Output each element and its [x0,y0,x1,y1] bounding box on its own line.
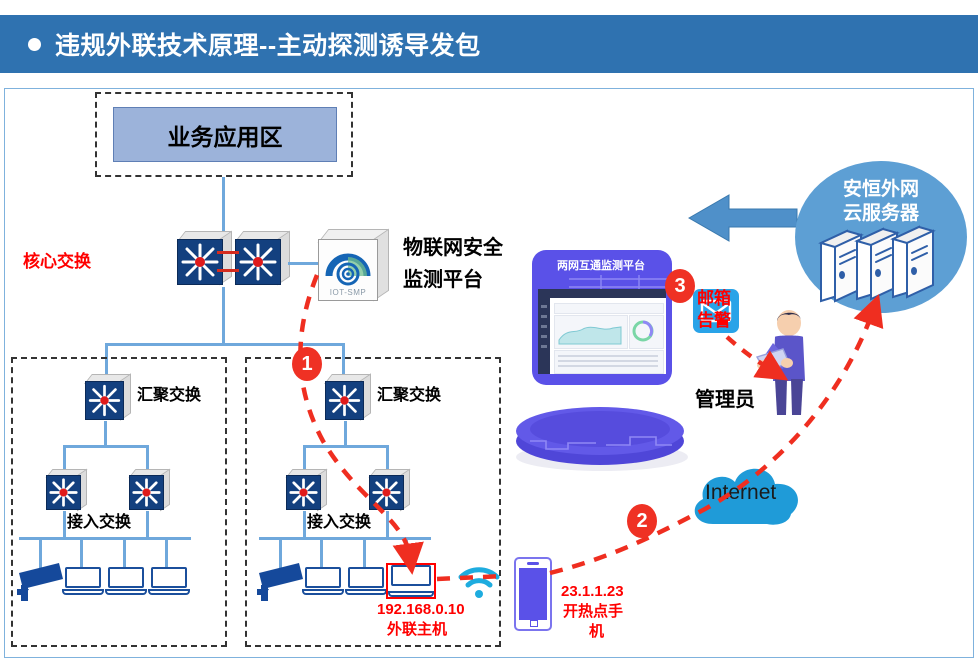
link-left-ep3 [123,537,126,571]
link-right-ep2 [320,537,323,571]
link-right-agg-bus [303,445,389,448]
dashboard-topbar [550,289,666,298]
external-host-ip: 192.168.0.10 [377,601,465,619]
administrator-figure [753,307,823,419]
access-switch-left-2 [127,469,171,515]
hotspot-phone-name-line2: 机 [589,623,604,641]
access-switch-right-2 [367,469,411,515]
link-left-ep4 [165,537,168,571]
step-marker-3: 3 [665,269,695,303]
link-right-acc2-down [386,511,389,539]
aggregation-switch-right [323,374,371,424]
aggregation-switch-right-label: 汇聚交换 [377,387,441,405]
external-host-name: 外联主机 [387,621,447,639]
laptop-right-1 [302,567,344,595]
aggregation-switch-left-label: 汇聚交换 [137,387,201,405]
data-flow-arrow-icon [689,193,799,243]
access-switch-right-label: 接入交换 [307,514,371,532]
link-left-acc2-down [146,511,149,539]
link-left-agg-bus [63,445,149,448]
external-host-laptop [388,565,434,597]
link-left-acc1-down [63,511,66,539]
cloud-server-towers [817,217,949,303]
hotspot-phone-name-line1: 开热点手 [563,603,623,621]
dashboard-donut-chart [629,315,664,349]
iot-platform-label-line1: 物联网安全 [403,237,503,260]
iot-smp-device-text: IOT-SMP [319,288,377,297]
bullet-dot-icon [28,38,41,51]
iot-platform-label-line2: 监测平台 [403,269,483,292]
core-switch-a [175,231,231,289]
internet-label: Internet [705,481,776,505]
laptop-left-2 [105,567,147,595]
dashboard-table [554,350,664,374]
platform-disc-base [510,387,690,473]
dashboard-screen [538,289,666,374]
step-marker-2: 2 [627,504,657,538]
iot-smp-device: IOT-SMP [315,229,395,307]
ip-camera-left [15,559,67,603]
laptop-left-3 [148,567,190,595]
access-switch-left-label: 接入交换 [67,514,131,532]
core-switch-b [233,231,289,289]
link-right-ep3 [363,537,366,571]
administrator-label: 管理员 [695,389,755,412]
slide-title-bar: 违规外联技术原理--主动探测诱导发包 [0,15,978,73]
dashboard-filter-row [554,303,664,314]
mail-alert-label-line2: 告警 [697,311,731,331]
aggregation-switch-left [83,374,131,424]
core-switch-interlink-lower [217,269,239,272]
cloud-server-label-line1: 安恒外网 [795,179,967,202]
step-marker-1: 1 [292,347,322,381]
hotspot-phone [514,557,552,631]
core-switch-interlink-upper [217,251,239,254]
access-switch-right-1 [284,469,328,515]
laptop-right-2 [345,567,387,595]
link-left-agg-down [104,421,107,447]
link-right-acc1-down [303,511,306,539]
wifi-icon [455,561,503,601]
link-right-agg-down [344,421,347,447]
link-left-ep2 [80,537,83,571]
slide-root: 违规外联技术原理--主动探测诱导发包 业务应用区 [0,0,978,662]
monitoring-platform-label: 两网互通监测平台 [557,257,645,273]
business-app-zone-label: 业务应用区 [168,118,283,152]
page-title: 违规外联技术原理--主动探测诱导发包 [55,26,481,62]
link-trunk-horizontal [105,343,345,346]
ip-camera-right [255,559,307,603]
access-switch-left-1 [44,469,88,515]
laptop-left-1 [62,567,104,595]
core-switch-label: 核心交换 [23,252,91,272]
business-app-zone: 业务应用区 [113,107,337,162]
link-core-trunk-down [222,287,225,345]
hotspot-phone-ip: 23.1.1.23 [561,583,624,601]
diagram-canvas: 业务应用区 [4,88,974,658]
dashboard-area-chart [554,315,628,349]
mail-alert-label-line1: 邮箱 [697,289,731,309]
